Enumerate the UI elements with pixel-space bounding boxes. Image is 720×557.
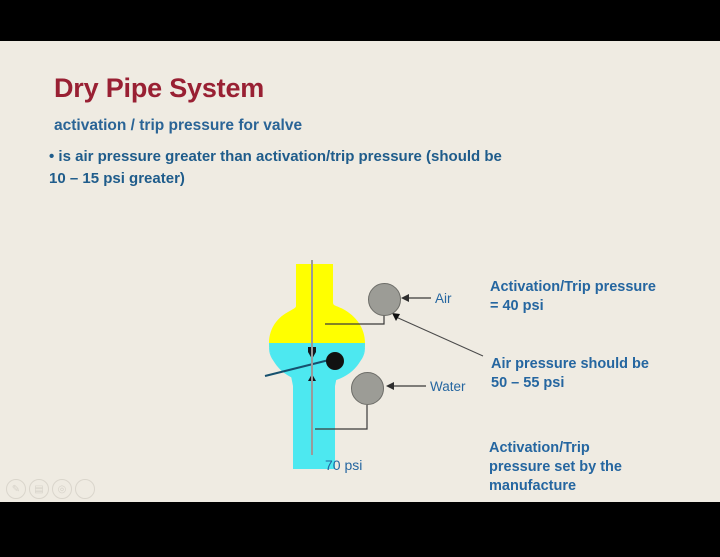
air-pressure-gauge[interactable]: [368, 283, 401, 316]
slide-frame: Dry Pipe System activation / trip pressu…: [0, 0, 720, 557]
arrowhead-air-label: [401, 294, 409, 302]
magnifier-icon[interactable]: ◎: [52, 479, 72, 499]
arrowhead-water-label: [386, 382, 394, 390]
pen-icon[interactable]: ✎: [6, 479, 26, 499]
gauge-stem-line: [311, 260, 313, 455]
slide-icon[interactable]: ▤: [29, 479, 49, 499]
slide-subtitle: activation / trip pressure for valve: [54, 117, 302, 135]
air-section-upper: [269, 264, 365, 347]
page-title: Dry Pipe System: [54, 73, 264, 104]
valve-body-graphic: [255, 216, 515, 491]
leader-diagonal-origin-marker: [392, 313, 400, 321]
dry-pipe-valve-diagram: Air Water 70 psi: [255, 216, 515, 491]
slide-canvas[interactable]: Dry Pipe System activation / trip pressu…: [0, 41, 720, 502]
clapper-pivot-ball: [326, 352, 344, 370]
bottom-pressure-label: 70 psi: [325, 457, 362, 473]
water-label: Water: [430, 379, 466, 394]
leader-diagonal-to-air-pressure-note: [396, 317, 483, 356]
air-label: Air: [435, 291, 452, 306]
blank-icon[interactable]: [75, 479, 95, 499]
slide-bullet-text: • is air pressure greater than activatio…: [49, 146, 519, 190]
water-pressure-gauge[interactable]: [351, 372, 384, 405]
presentation-toolbar[interactable]: ✎ ▤ ◎: [6, 479, 95, 499]
